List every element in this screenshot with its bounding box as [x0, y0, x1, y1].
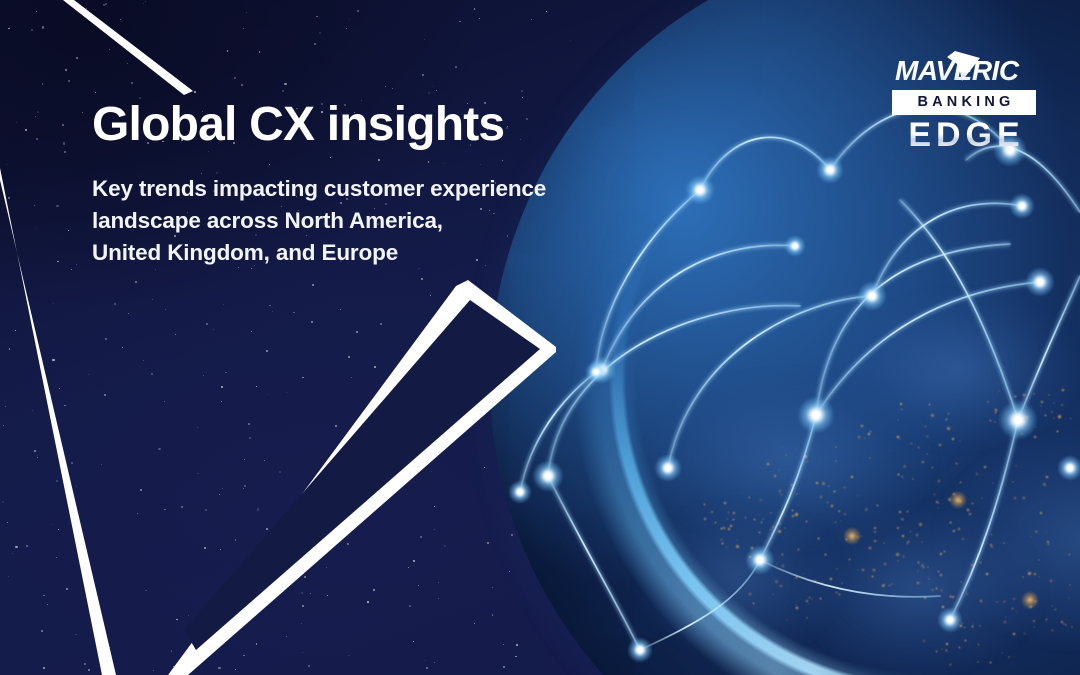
page-title: Global CX insights	[92, 100, 692, 151]
maveric-wordmark-svg: MAVERIC	[892, 50, 1036, 88]
brand-logo[interactable]: MAVERIC BANKING EDGE	[892, 50, 1036, 152]
banner-root: Global CX insights Key trends impacting …	[0, 0, 1080, 675]
maveric-wordmark: MAVERIC	[892, 50, 1036, 88]
headline-block: Global CX insights Key trends impacting …	[92, 100, 692, 269]
banking-label: BANKING	[892, 90, 1036, 115]
chevron-arrow	[168, 280, 556, 675]
maveric-text: MAVERIC	[895, 55, 1020, 86]
chevron-arrow-inner	[184, 300, 540, 650]
diagonal-line-top	[63, 0, 192, 93]
subtitle-line-3: United Kingdom, and Europe	[92, 237, 692, 269]
page-subtitle: Key trends impacting customer experience…	[92, 173, 692, 269]
subtitle-line-1: Key trends impacting customer experience	[92, 173, 692, 205]
subtitle-line-2: landscape across North America,	[92, 205, 692, 237]
edge-label: EDGE	[892, 118, 1036, 152]
